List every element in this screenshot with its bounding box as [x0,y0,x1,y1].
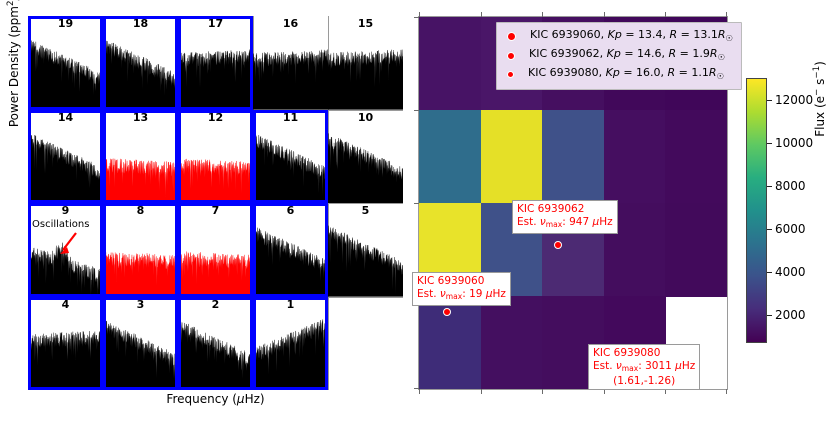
legend-entry: KIC 6939060, Kp = 13.4, R = 13.1R☉ [503,27,733,46]
spectrum-cell: 16 [253,16,328,110]
legend-entry-label: KIC 6939060, Kp = 13.4, R = 13.1R☉ [530,27,733,46]
colorbar-tick [767,186,772,187]
callout-title: KIC 6939062 [517,203,613,216]
spectrum-cell: 8 [103,203,178,297]
pixel-spectra-panel: 19181716151413121110987654321 Oscillatio… [28,16,403,410]
heatmap-pixel [481,110,543,204]
heatmap-ytick [414,388,419,389]
spectrum-trace [28,297,103,391]
spectrum-cell-number: 5 [328,205,403,216]
callout-kic-6939080: KIC 6939080Est. νmax: 3011 μHz(1.61,-1.2… [588,344,700,390]
spectrum-cell: 4 [28,297,103,391]
heatmap-xtick [726,389,727,394]
spectrum-cell-number: 18 [103,18,178,29]
spectrum-cell-number: 14 [28,112,103,123]
heatmap-ytick [414,203,419,204]
spectrum-trace [328,16,403,110]
star-legend: KIC 6939060, Kp = 13.4, R = 13.1R☉KIC 69… [496,22,742,90]
colorbar-tick [767,100,772,101]
heatmap-pixel [665,110,727,204]
legend-marker-icon [507,52,515,60]
heatmap-xtick [726,12,727,17]
spectrum-cell: 19 [28,16,103,110]
flux-heatmap-panel: KIC 6939060Est. νmax: 19 μHzKIC 6939062E… [418,16,728,410]
spectrum-cell: 2 [178,297,253,391]
spectrum-cell-number: 13 [103,112,178,123]
spectrum-cell-number: 4 [28,299,103,310]
callout-coords: (1.61,-1.26) [593,375,695,388]
heatmap-xtick [419,12,420,17]
spectrum-cell: 12 [178,110,253,204]
heatmap-xtick [542,389,543,394]
heatmap-pixel [665,203,727,297]
colorbar-tick-label: 4000 [775,266,806,278]
colorbar-gradient [746,78,767,343]
colorbar-tick [767,315,772,316]
spectrum-trace [103,203,178,297]
spectrum-cell-number: 8 [103,205,178,216]
heatmap-xtick [604,12,605,17]
spectrum-trace [253,203,328,297]
spectrum-cell: 5 [328,203,403,297]
colorbar-tick-label: 10000 [775,137,813,149]
spectrum-trace [28,110,103,204]
spectrum-trace [178,110,253,204]
spectrum-trace [178,16,253,110]
colorbar-group: 12000100008000600040002000 Flux (e− s−1) [746,78,826,372]
spectrum-cell: 10 [328,110,403,204]
spectrum-trace [178,203,253,297]
star-marker[interactable] [554,241,562,249]
figure-root: 19181716151413121110987654321 Oscillatio… [0,0,831,442]
legend-marker-icon [507,32,516,41]
colorbar-tick-label: 12000 [775,94,813,106]
heatmap-xtick [665,12,666,17]
spectrum-cell: 3 [103,297,178,391]
heatmap-pixel [419,17,481,111]
spectrum-cell: 15 [328,16,403,110]
spectrum-cell: 6 [253,203,328,297]
spectrum-cell: 7 [178,203,253,297]
colorbar-tick-label: 8000 [775,180,806,192]
callout-numax: Est. νmax: 947 μHz [517,216,613,231]
spectrum-cell-number: 1 [253,299,328,310]
callout-title: KIC 6939080 [593,347,695,360]
spectrum-cell-number: 17 [178,18,253,29]
heatmap-xtick [419,389,420,394]
spectrum-trace [328,110,403,204]
heatmap-pixel [604,110,666,204]
legend-entry-label: KIC 6939080, Kp = 16.0, R = 1.1R☉ [528,65,724,84]
callout-title: KIC 6939060 [417,275,506,288]
colorbar-tick [767,272,772,273]
spectrum-cell-empty [328,297,403,391]
legend-entry: KIC 6939080, Kp = 16.0, R = 1.1R☉ [503,65,733,84]
oscillations-arrow-icon [54,230,84,260]
spectrum-cell-number: 7 [178,205,253,216]
spectrum-cell-number: 6 [253,205,328,216]
spectrum-trace [178,297,253,391]
heatmap-xtick [542,12,543,17]
spectrum-cell-number: 11 [253,112,328,123]
spectra-xlabel: Frequency (μHz) [28,392,403,406]
colorbar-tick [767,229,772,230]
colorbar-tick [767,143,772,144]
heatmap-pixel [419,110,481,204]
spectrum-trace [28,16,103,110]
spectrum-trace [328,203,403,297]
heatmap-ytick [414,17,419,18]
legend-entry: KIC 6939062, Kp = 14.6, R = 1.9R☉ [503,46,733,65]
callout-numax: Est. νmax: 19 μHz [417,288,506,303]
spectrum-cell: 11 [253,110,328,204]
heatmap-pixel [542,110,604,204]
spectrum-cell: 1 [253,297,328,391]
spectrum-trace [253,297,328,391]
spectrum-cell-number: 15 [328,18,403,29]
colorbar-label: Flux (e− s−1) [812,24,827,174]
spectrum-trace [103,16,178,110]
spectrum-cell: 14 [28,110,103,204]
spectrum-cell-number: 9 [28,205,103,216]
colorbar-tick-label: 2000 [775,309,806,321]
star-marker[interactable] [443,308,451,316]
heatmap-xtick [481,389,482,394]
spectra-ylabel: Power Density (ppm2/μHz) [6,0,21,158]
spectrum-cell-number: 12 [178,112,253,123]
spectrum-cell-number: 19 [28,18,103,29]
heatmap-pixel [481,296,543,390]
callout-kic-6939062: KIC 6939062Est. νmax: 947 μHz [512,200,618,234]
oscillations-annotation: Oscillations [32,220,89,230]
callout-numax: Est. νmax: 3011 μHz [593,360,695,375]
spectrum-cell-number: 10 [328,112,403,123]
legend-marker-icon [507,71,514,78]
spectrum-cell: 13 [103,110,178,204]
spectrum-trace [103,110,178,204]
spectrum-cell-number: 2 [178,299,253,310]
spectrum-cell: 17 [178,16,253,110]
colorbar-tick-label: 6000 [775,223,806,235]
heatmap-ytick [414,110,419,111]
spectrum-trace [103,297,178,391]
heatmap-xtick [481,12,482,17]
spectrum-cell-number: 16 [253,18,328,29]
spectrum-cell-number: 3 [103,299,178,310]
callout-kic-6939060: KIC 6939060Est. νmax: 19 μHz [412,272,511,306]
legend-entry-label: KIC 6939062, Kp = 14.6, R = 1.9R☉ [529,46,725,65]
spectrum-cell: 18 [103,16,178,110]
spectrum-trace [253,110,328,204]
spectrum-trace [253,16,328,110]
